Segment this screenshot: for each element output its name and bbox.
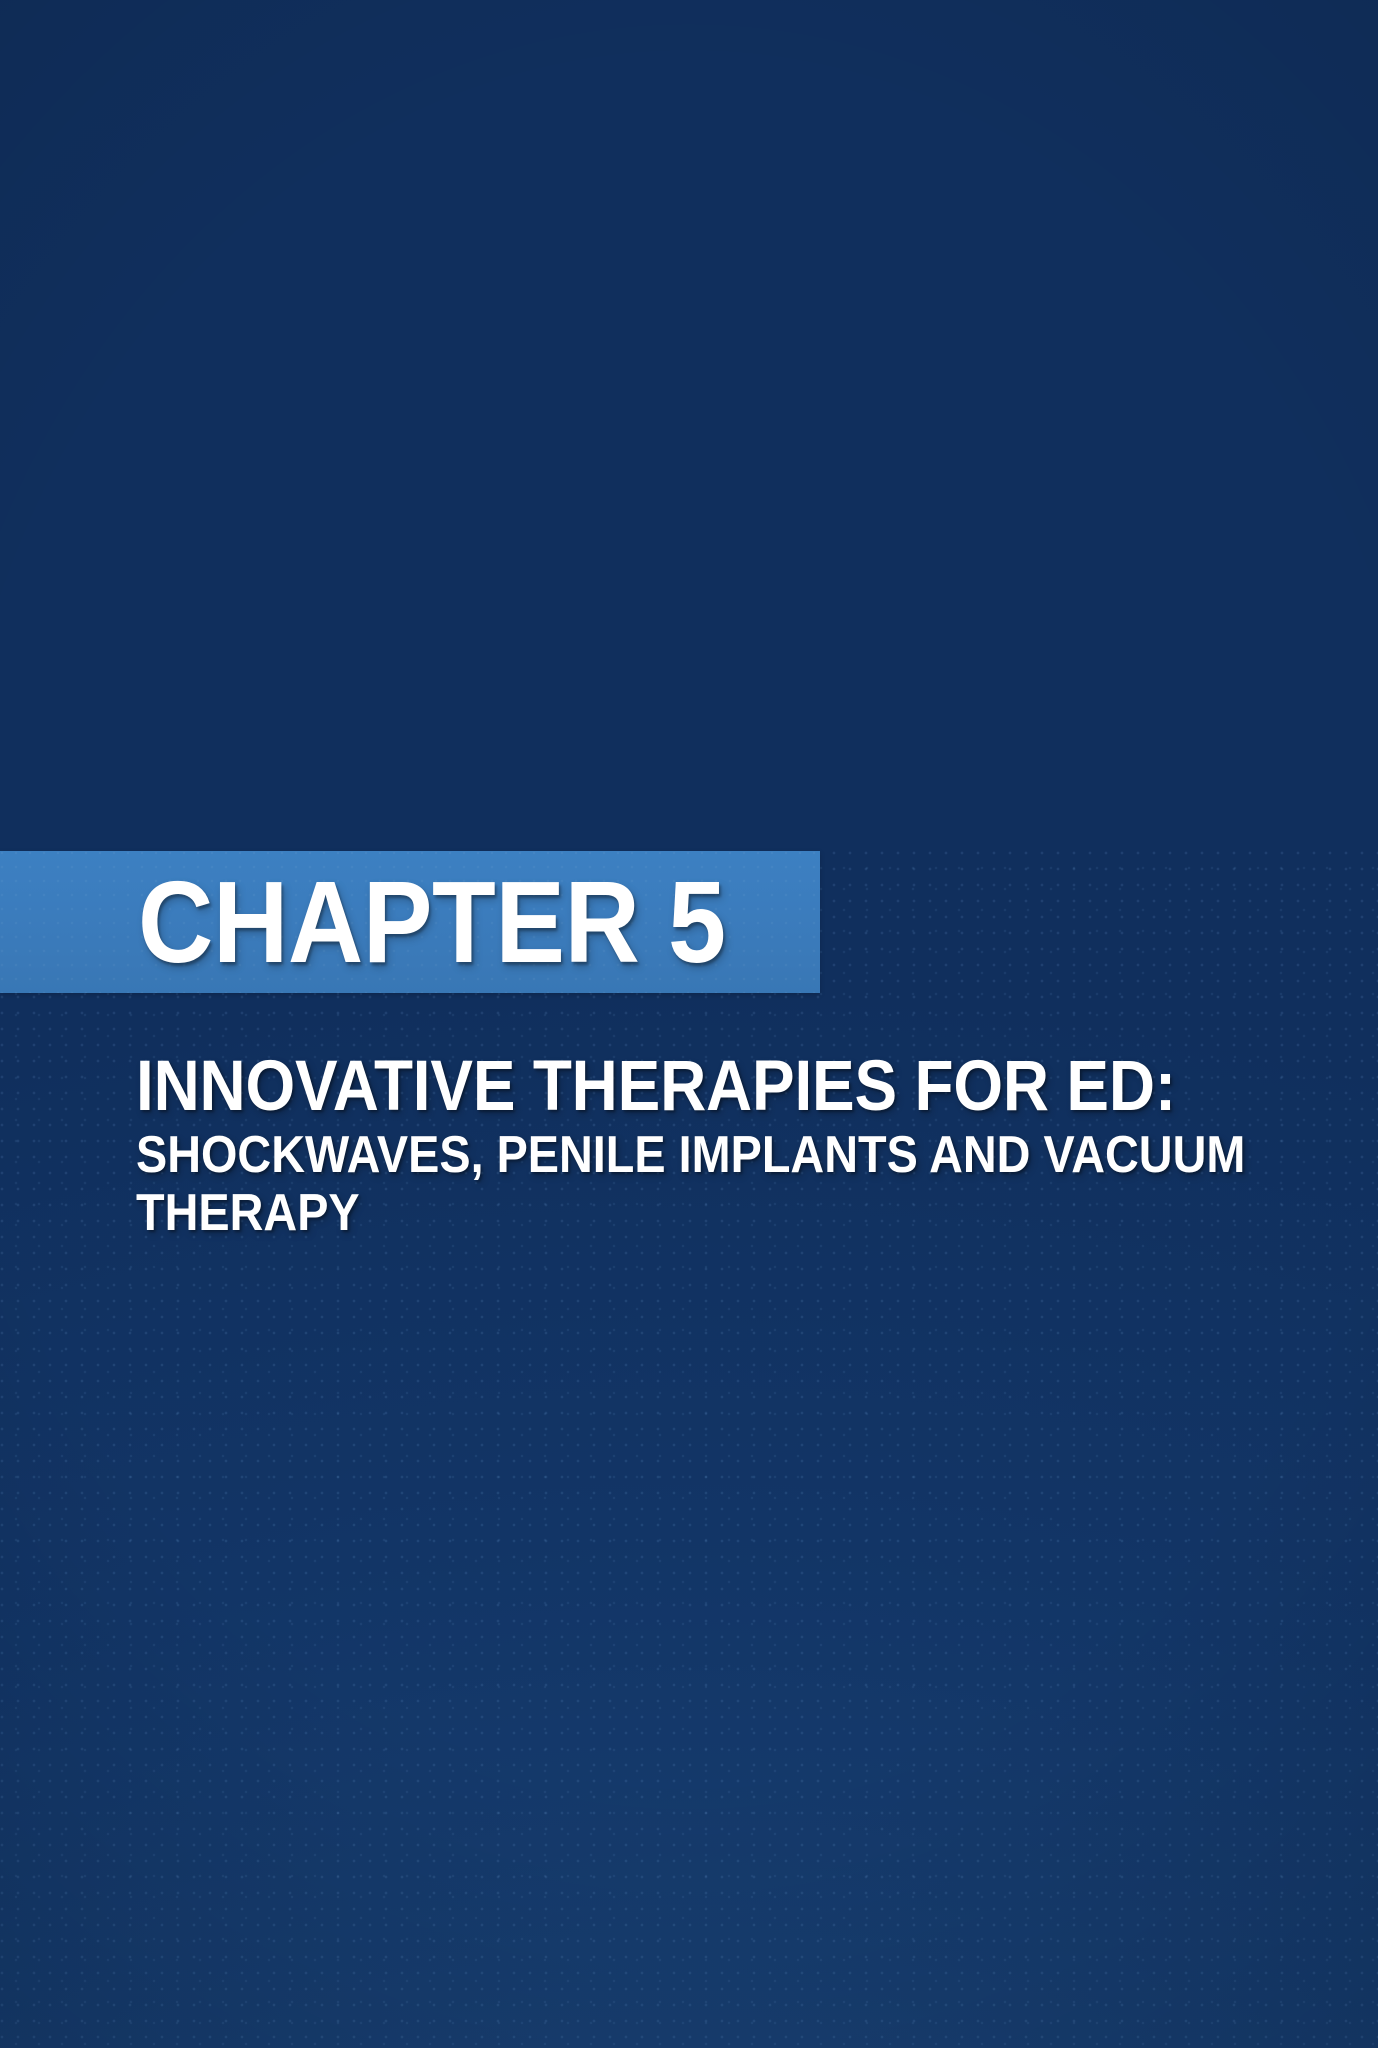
chapter-title: INNOVATIVE THERAPIES FOR ED: SHOCKWAVES,…: [136, 1048, 1336, 1242]
chapter-title-line-1: INNOVATIVE THERAPIES FOR ED:: [136, 1048, 1216, 1126]
chapter-number-label: CHAPTER 5: [138, 857, 750, 987]
background-gradient: [0, 0, 1378, 2048]
chapter-divider-slide: CHAPTER 5 INNOVATIVE THERAPIES FOR ED: S…: [0, 0, 1378, 2048]
chapter-title-line-3: THERAPY: [136, 1184, 1216, 1242]
chapter-title-line-2: SHOCKWAVES, PENILE IMPLANTS AND VACUUM: [136, 1126, 1216, 1184]
